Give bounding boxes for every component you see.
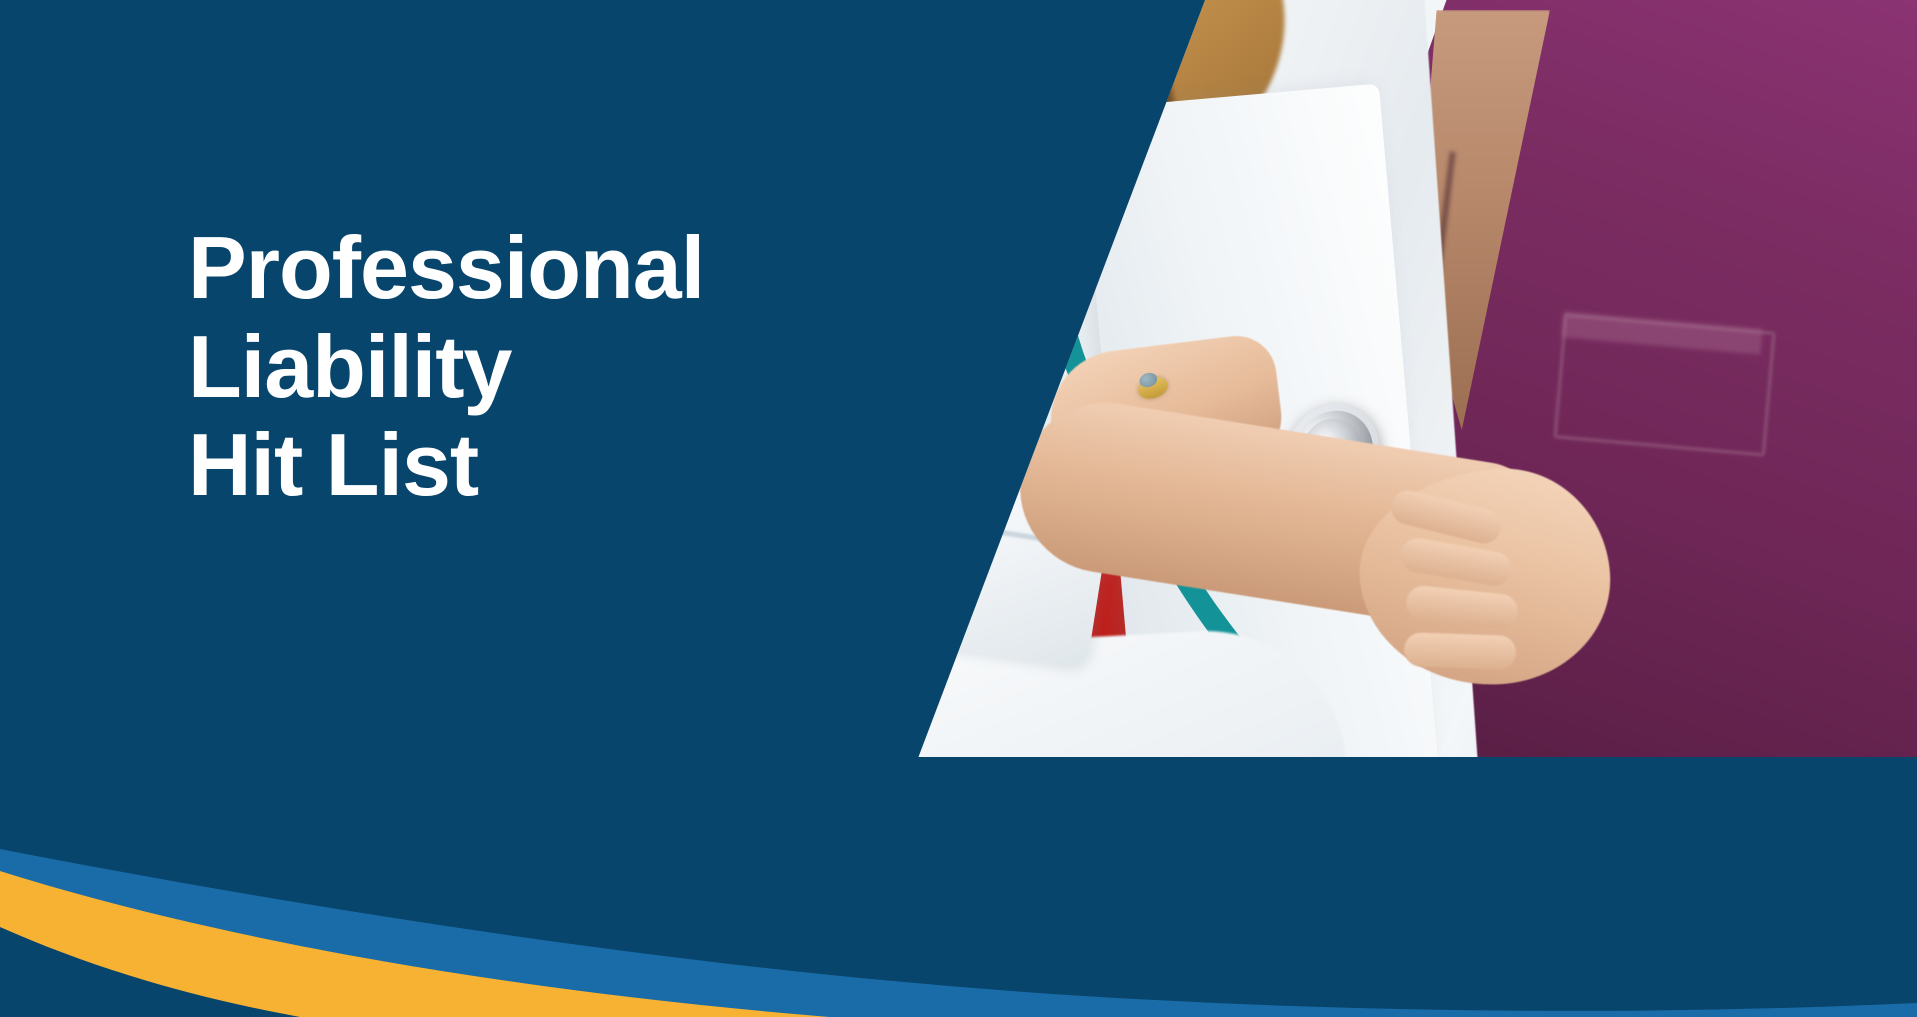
banner: Professional Liability Hit List [0,0,1917,1017]
finger-4 [1403,632,1516,670]
bottom-wave-decoration [0,757,1917,1017]
page-title: Professional Liability Hit List [188,219,888,515]
